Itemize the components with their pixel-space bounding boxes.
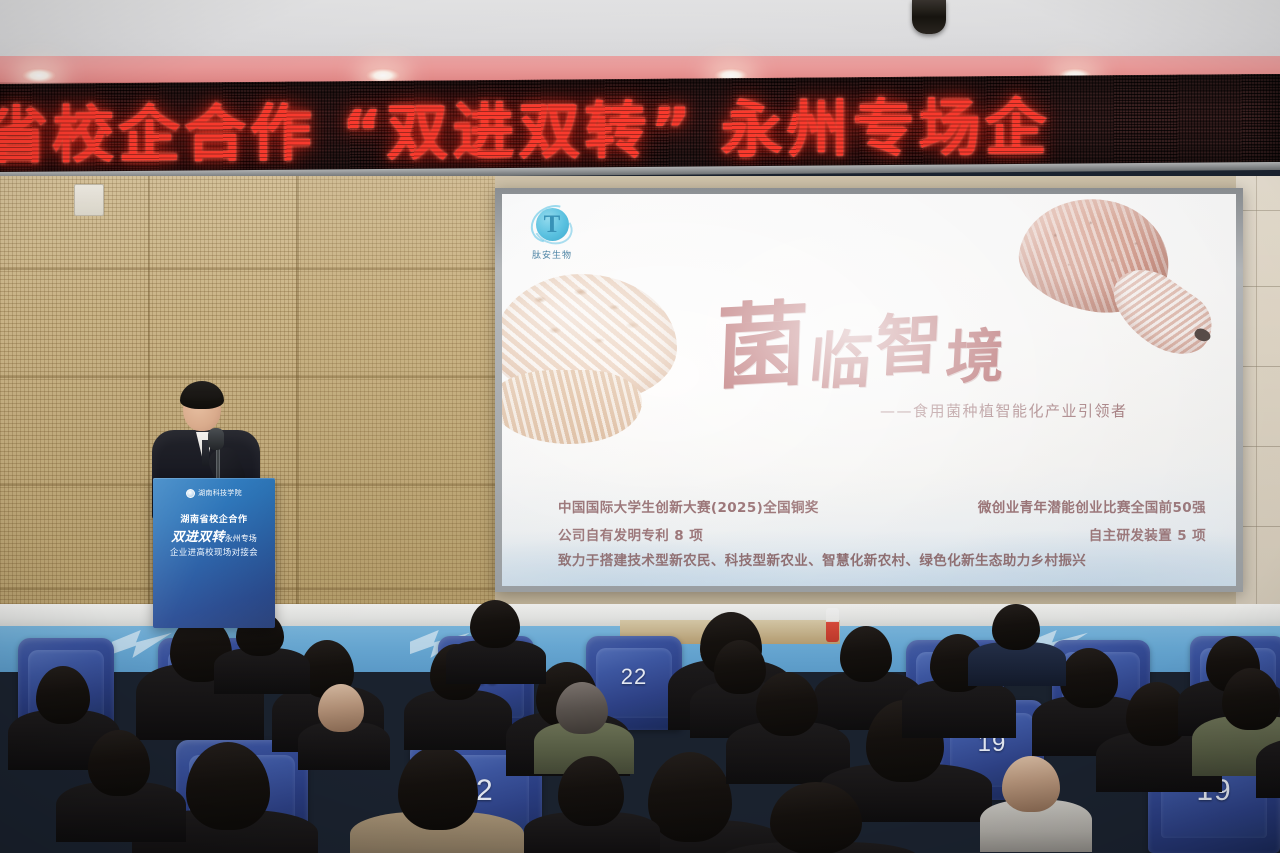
- attendee-head: [470, 600, 520, 648]
- title-char-4: 境: [944, 309, 1007, 395]
- downlight: [22, 68, 56, 83]
- acoustic-seam-v: [148, 176, 150, 628]
- microphone-icon: [208, 428, 224, 450]
- acoustic-seam: [0, 376, 495, 378]
- fact-right-2: 自主研发装置 5 项: [876, 522, 1206, 550]
- logo-company-name: 肽安生物: [520, 248, 584, 261]
- title-char-3: 智: [873, 290, 944, 389]
- projection-screen: T 肽安生物 菌 临 智 境 ——食用菌种植智能化产业引领者 中国国际大学生创新…: [502, 194, 1236, 586]
- mushroom-left-image: [502, 274, 702, 454]
- attendee-head: [992, 604, 1040, 650]
- acoustic-panel-mid: [300, 176, 495, 628]
- attendee-head: [556, 682, 608, 734]
- podium-line-1: 湖南省校企合作: [153, 512, 275, 525]
- attendee-head: [648, 752, 732, 842]
- fact-left-1: 中国国际大学生创新大赛(2025)全国铜奖: [558, 494, 878, 522]
- attendee-head: [1002, 756, 1060, 812]
- podium-line-2: 双进双转永州专场: [153, 526, 275, 545]
- ceiling: [0, 0, 1280, 62]
- fact-left-2: 公司自有发明专利 8 项: [558, 522, 878, 550]
- slide-facts-bottom: 致力于搭建技术型新农民、科技型新农业、智慧化新农村、绿色化新生态助力乡村振兴: [558, 549, 1198, 569]
- conference-hall-photo: 省校企合作 “双进双转” 永州专场企: [0, 0, 1280, 853]
- school-emblem-icon: [186, 489, 195, 498]
- company-logo: T 肽安生物: [520, 204, 584, 261]
- wall-vent: [74, 184, 104, 216]
- slide-subtitle: ——食用菌种植智能化产业引领者: [880, 400, 1180, 421]
- title-char-2: 临: [806, 309, 876, 401]
- audience-area: 2625232220191823221919: [0, 600, 1280, 853]
- title-char-1: 菌: [714, 270, 811, 408]
- attendee-head: [318, 684, 364, 732]
- podium-school-row: 湖南科技学院: [153, 488, 275, 498]
- slide-title: 菌 临 智 境: [714, 266, 1044, 392]
- fact-right-1: 微创业青年潜能创业比赛全国前50强: [876, 494, 1206, 522]
- attendee-head: [1060, 648, 1118, 708]
- podium: 湖南科技学院 湖南省校企合作 双进双转永州专场 企业进高校现场对接会: [153, 478, 275, 628]
- ceiling-speaker: [912, 0, 946, 34]
- podium-line-3: 企业进高校现场对接会: [153, 546, 275, 558]
- attendee-head: [714, 640, 766, 694]
- led-banner: 省校企合作 “双进双转” 永州专场企: [0, 74, 1280, 176]
- podium-line-2-sub: 永州专场: [225, 534, 257, 543]
- acoustic-seam-v: [296, 176, 299, 628]
- logo-mark-icon: T: [529, 204, 575, 246]
- acoustic-seam: [0, 268, 495, 270]
- podium-school-name: 湖南科技学院: [198, 488, 242, 498]
- led-banner-text: 省校企合作 “双进双转” 永州专场企: [0, 75, 1280, 175]
- attendee-head: [756, 672, 818, 736]
- attendee-head: [840, 626, 892, 682]
- attendee-head: [1222, 668, 1280, 730]
- logo-letter: T: [529, 204, 575, 246]
- projection-screen-frame: T 肽安生物 菌 临 智 境 ——食用菌种植智能化产业引领者 中国国际大学生创新…: [495, 188, 1243, 592]
- podium-line-2-main: 双进双转: [171, 530, 225, 545]
- slide-facts-right: 微创业青年潜能创业比赛全国前50强 自主研发装置 5 项: [876, 494, 1206, 550]
- attendee-head: [36, 666, 90, 724]
- slide-facts-left: 中国国际大学生创新大赛(2025)全国铜奖 公司自有发明专利 8 项: [558, 494, 878, 550]
